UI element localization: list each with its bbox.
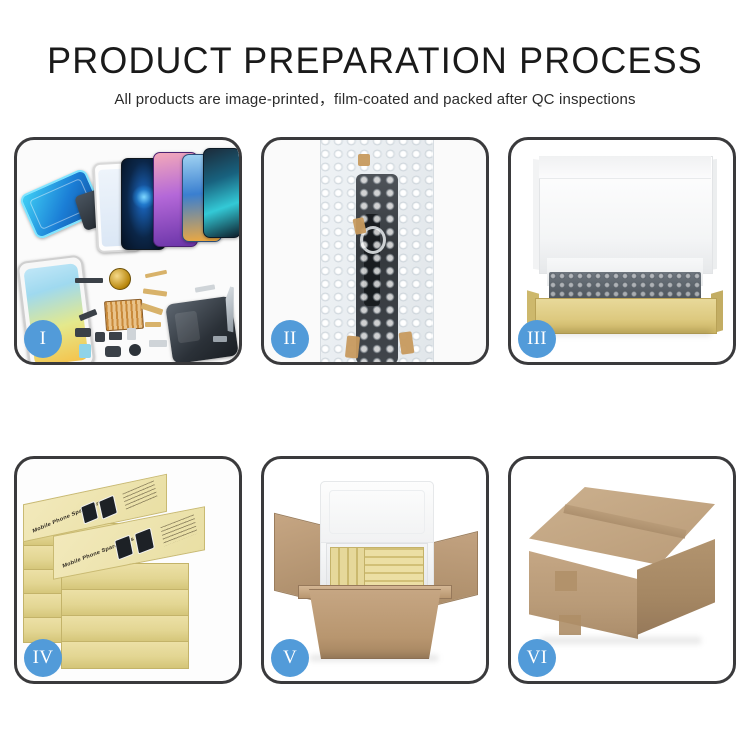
bubble-wrap-overlay — [320, 140, 432, 362]
foam-lid-top-edge — [539, 156, 711, 179]
process-step-panel-5[interactable]: V — [261, 456, 489, 684]
page-header: PRODUCT PREPARATION PROCESS All products… — [0, 0, 750, 110]
spare-part — [213, 336, 227, 342]
speaker-module-part — [109, 268, 131, 290]
spare-part — [149, 340, 167, 347]
spare-part — [145, 270, 167, 278]
carton-shadow — [310, 655, 438, 661]
kraft-box-front — [535, 298, 717, 334]
spare-part — [195, 284, 216, 292]
spare-part — [127, 328, 136, 340]
step-badge-1: I — [24, 320, 62, 358]
teal-phone-screen — [203, 148, 239, 238]
spare-part — [79, 344, 91, 358]
process-step-panel-4[interactable]: Mobile Phone Spare Parts Mobile Phone Sp… — [14, 456, 242, 684]
box-spec-lines — [160, 514, 197, 546]
tape-piece — [345, 335, 360, 358]
stacked-box — [61, 641, 189, 669]
tape-piece — [358, 154, 370, 166]
step-badge-2: II — [271, 320, 309, 358]
carton-body — [300, 589, 450, 659]
spare-part — [129, 344, 141, 356]
box-phone-graphic — [134, 527, 155, 554]
step-badge-5: V — [271, 639, 309, 677]
step-badge-4: IV — [24, 639, 62, 677]
spare-part — [141, 303, 164, 316]
step-badge-6: VI — [518, 639, 556, 677]
process-step-grid: I II III — [14, 137, 736, 684]
spare-part — [109, 332, 122, 340]
step-badge-3: III — [518, 320, 556, 358]
spare-part — [95, 332, 105, 342]
box-shadow — [539, 330, 711, 336]
tape-patch — [559, 615, 581, 635]
spare-part — [75, 328, 91, 337]
spare-part — [145, 322, 161, 327]
process-step-panel-1[interactable]: I — [14, 137, 242, 365]
spare-part — [143, 288, 167, 296]
box-spec-lines — [122, 480, 157, 510]
foam-lid — [320, 481, 434, 543]
carton-shadow — [541, 637, 701, 644]
stacked-box — [61, 589, 189, 617]
page-title: PRODUCT PREPARATION PROCESS — [11, 40, 739, 82]
page-subtitle: All products are image-printed，film-coat… — [0, 90, 750, 110]
process-step-panel-2[interactable]: II — [261, 137, 489, 365]
tape-patch — [555, 571, 577, 591]
carton-left-face — [529, 551, 638, 639]
spare-part — [75, 278, 103, 283]
stacked-box — [61, 615, 189, 643]
yellow-boxes-row — [364, 547, 424, 589]
chip-array-part — [104, 299, 144, 332]
spare-part — [105, 346, 121, 357]
process-step-panel-3[interactable]: III — [508, 137, 736, 365]
process-step-panel-6[interactable]: VI — [508, 456, 736, 684]
